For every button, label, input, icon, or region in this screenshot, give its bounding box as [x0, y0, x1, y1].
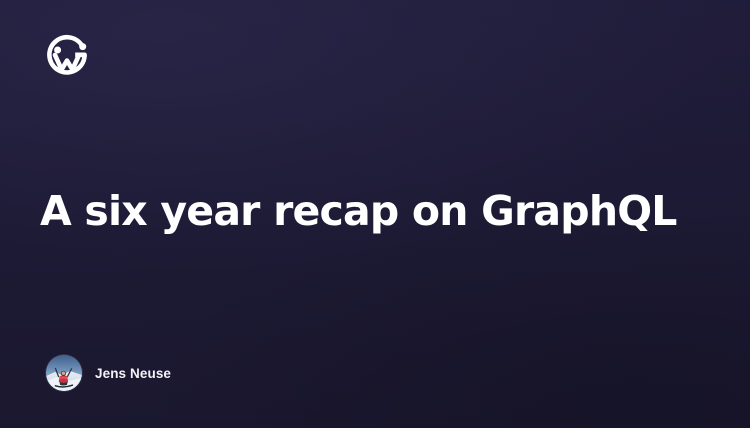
wundergraph-logo[interactable]	[44, 33, 90, 85]
article-title: A six year recap on GraphQL	[40, 186, 700, 236]
wg-logo-icon	[44, 33, 90, 85]
author-byline[interactable]: Jens Neuse	[46, 355, 171, 391]
share-card: A six year recap on GraphQL	[0, 0, 750, 428]
author-avatar	[46, 355, 82, 391]
author-name: Jens Neuse	[95, 366, 171, 381]
